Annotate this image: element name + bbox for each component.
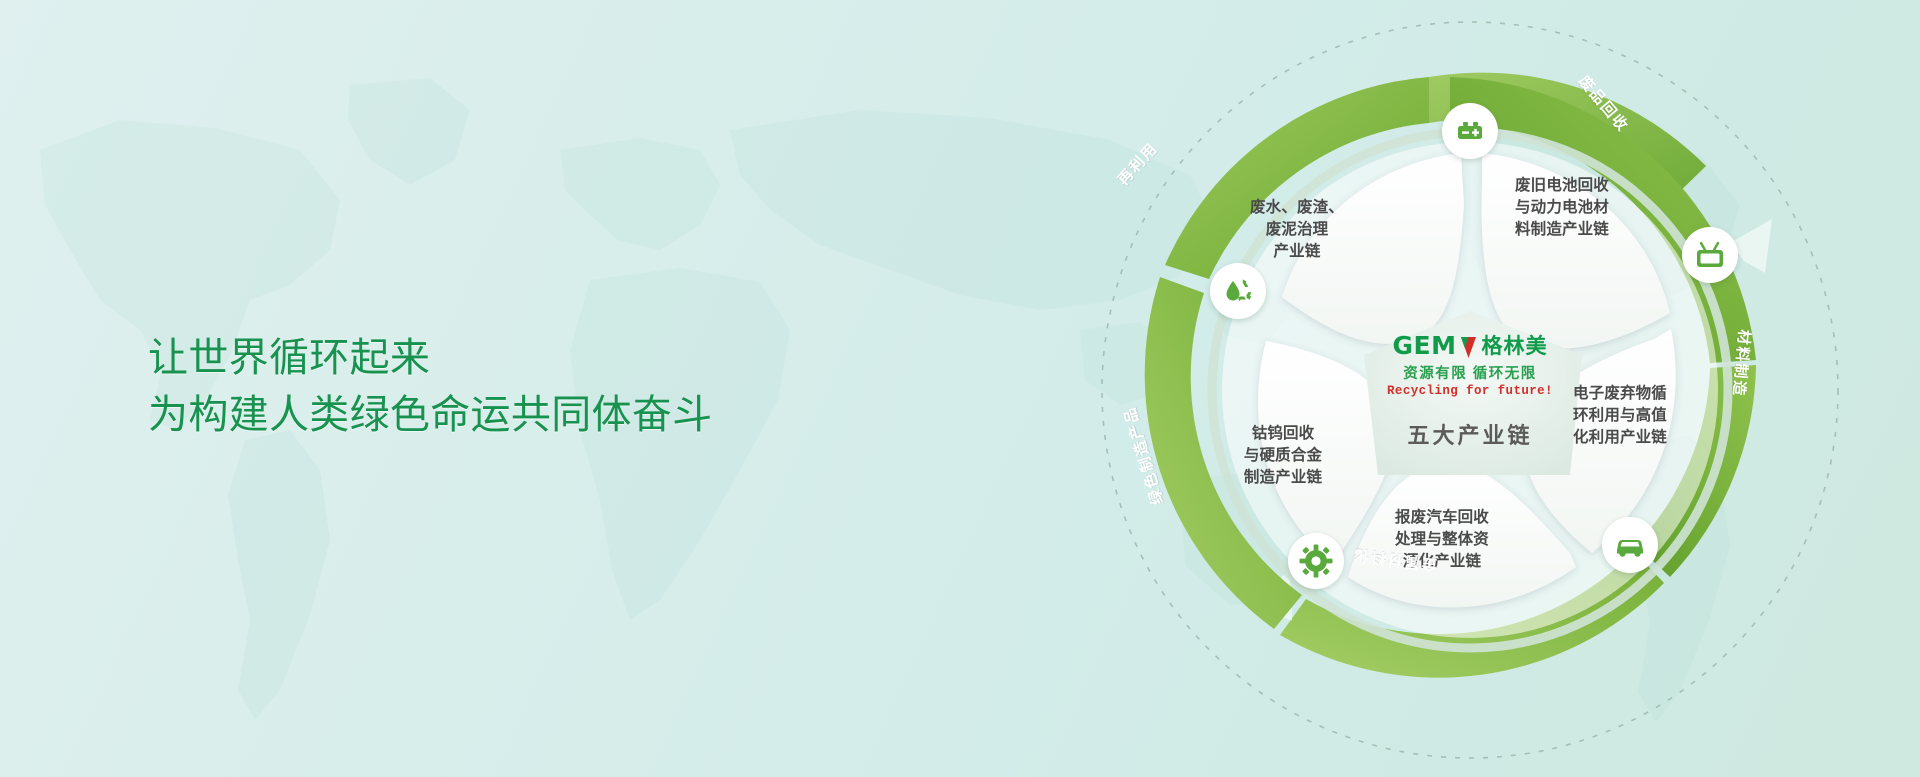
- headline-line-1: 让世界循环起来: [148, 330, 712, 387]
- gear-icon-bubble[interactable]: [1288, 533, 1344, 589]
- wedge-label-battery: 废旧电池回收 与动力电池材 料制造产业链: [1482, 175, 1642, 241]
- television-icon-bubble[interactable]: [1682, 227, 1738, 283]
- headline-line-2: 为构建人类绿色命运共同体奋斗: [148, 387, 712, 444]
- recycle-water-drop-icon-bubble[interactable]: [1210, 263, 1266, 319]
- gear-icon: [1299, 544, 1333, 578]
- car-icon-bubble[interactable]: [1602, 517, 1658, 573]
- battery-icon-bubble[interactable]: [1442, 103, 1498, 159]
- recycle-water-drop-icon: [1221, 274, 1255, 308]
- battery-icon: [1454, 115, 1486, 147]
- television-icon: [1694, 239, 1726, 271]
- five-industry-chains-diagram: 废水、废渣、 废泥治理 产业链 废旧电池回收 与动力电池材 料制造产业链 电子废…: [1030, 5, 1910, 775]
- wedge-label-wastewater: 废水、废渣、 废泥治理 产业链: [1222, 197, 1372, 263]
- wedge-label-cobalt-tungsten: 钴钨回收 与硬质合金 制造产业链: [1208, 423, 1358, 489]
- car-icon: [1613, 528, 1647, 562]
- wedge-label-ewaste: 电子废弃物循 环利用与高值 化利用产业链: [1540, 383, 1700, 449]
- banner-headline: 让世界循环起来 为构建人类绿色命运共同体奋斗: [148, 330, 712, 444]
